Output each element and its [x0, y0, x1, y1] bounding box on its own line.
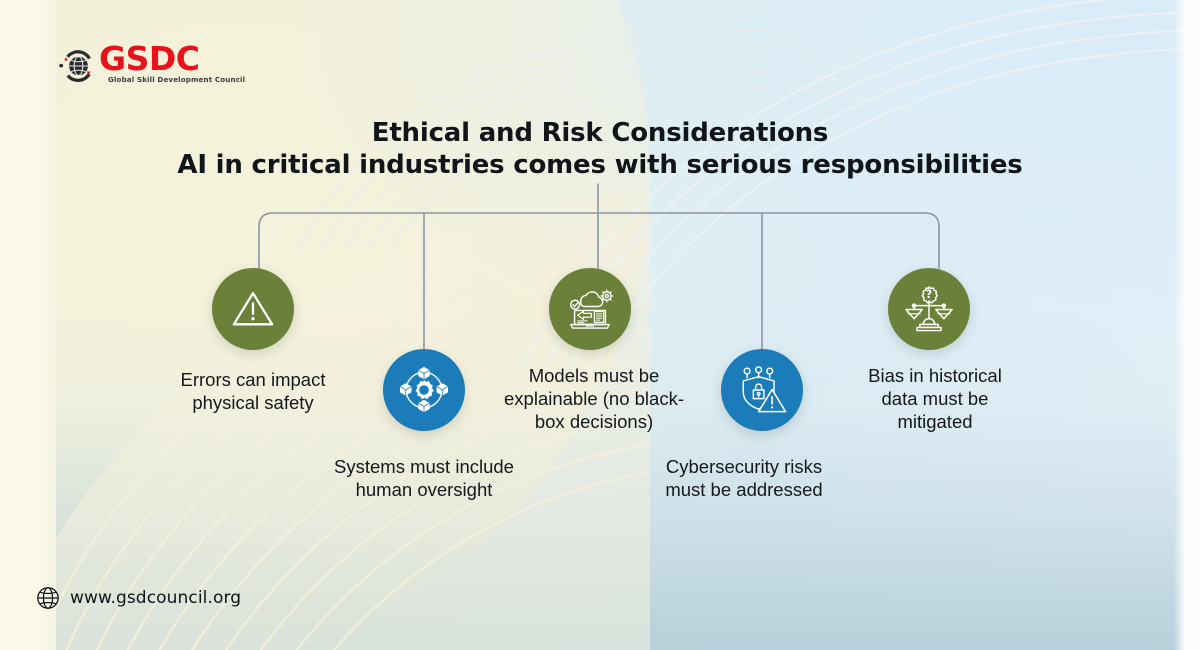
node-circle[interactable]	[383, 349, 465, 431]
node-label: Models must be explainable (no black- bo…	[480, 364, 708, 433]
slide-canvas: GSDC Global Skill Development Council Et…	[0, 0, 1200, 650]
svg-text:?: ?	[926, 288, 932, 301]
footer-url-text: www.gsdcouncil.org	[70, 588, 241, 608]
node-label: Errors can impact physical safety	[158, 368, 348, 414]
shield-lock-alert-icon	[737, 365, 787, 415]
globe-icon	[36, 586, 60, 610]
node-circle[interactable]	[549, 268, 631, 350]
warning-triangle-icon	[230, 286, 276, 332]
node-label: Cybersecurity risks must be addressed	[628, 455, 860, 501]
scales-question-icon: ?	[904, 284, 954, 334]
node-label: Bias in historical data must be mitigate…	[838, 364, 1032, 433]
node-circle[interactable]: ?	[888, 268, 970, 350]
gear-network-cubes-icon	[399, 365, 449, 415]
node-circle[interactable]	[212, 268, 294, 350]
footer-website[interactable]: www.gsdcouncil.org	[36, 586, 241, 610]
node-circle[interactable]	[721, 349, 803, 431]
node-label: Systems must include human oversight	[303, 455, 545, 501]
connector-bus	[259, 213, 939, 268]
laptop-cloud-gear-icon	[564, 283, 616, 335]
